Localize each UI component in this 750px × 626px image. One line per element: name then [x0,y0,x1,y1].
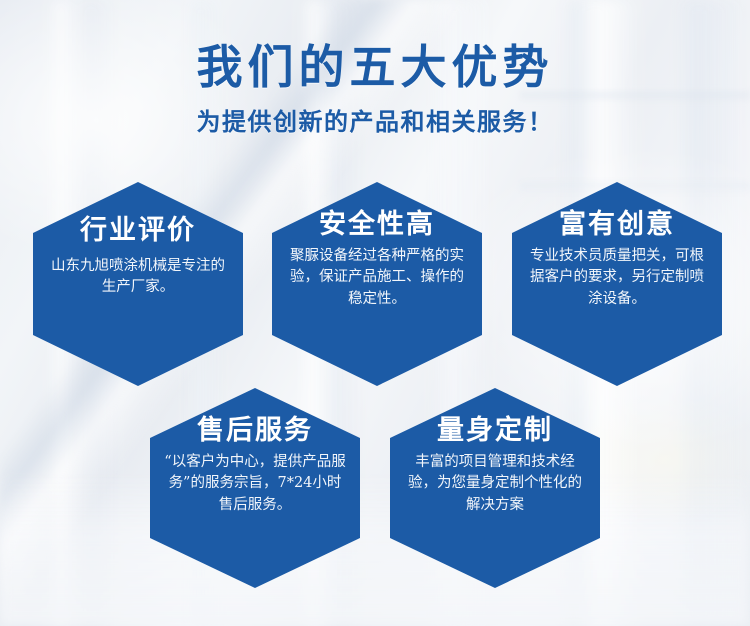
advantage-title-3: 富有创意 [559,210,675,240]
advantage-title-5: 量身定制 [437,416,553,446]
advantage-card-2[interactable]: 安全性高 聚脲设备经过各种严格的实验，保证产品施工、操作的稳定性。 [272,182,482,386]
advantage-description-1: 山东九旭喷涂机械是专注的生产厂家。 [46,256,231,300]
advantage-card-5[interactable]: 量身定制 丰富的项目管理和技术经验，为您量身定制个性化的解决方案 [390,388,600,588]
advantage-title-4: 售后服务 [197,416,313,446]
advantage-card-4[interactable]: 售后服务 “以客户为中心，提供产品服务”的服务宗旨，7*24小时售后服务。 [150,388,360,588]
advantage-card-1[interactable]: 行业评价 山东九旭喷涂机械是专注的生产厂家。 [33,182,243,386]
advantages-banner: 我们的五大优势 为提供创新的产品和相关服务！ 行业评价 山东九旭喷涂机械是专注的… [0,0,750,626]
advantage-description-5: 丰富的项目管理和技术经验，为您量身定制个性化的解决方案 [403,452,588,517]
page-subtitle: 为提供创新的产品和相关服务！ [0,110,750,134]
advantage-description-3: 专业技术员质量把关，可根据客户的要求，另行定制喷涂设备。 [525,246,710,311]
advantage-title-2: 安全性高 [319,210,435,240]
advantage-card-3[interactable]: 富有创意 专业技术员质量把关，可根据客户的要求，另行定制喷涂设备。 [512,182,722,386]
advantage-description-2: 聚脲设备经过各种严格的实验，保证产品施工、操作的稳定性。 [285,246,470,311]
page-title: 我们的五大优势 [0,44,750,90]
background-floor [0,470,750,626]
advantage-description-4: “以客户为中心，提供产品服务”的服务宗旨，7*24小时售后服务。 [163,452,348,517]
advantage-title-1: 行业评价 [80,216,196,246]
